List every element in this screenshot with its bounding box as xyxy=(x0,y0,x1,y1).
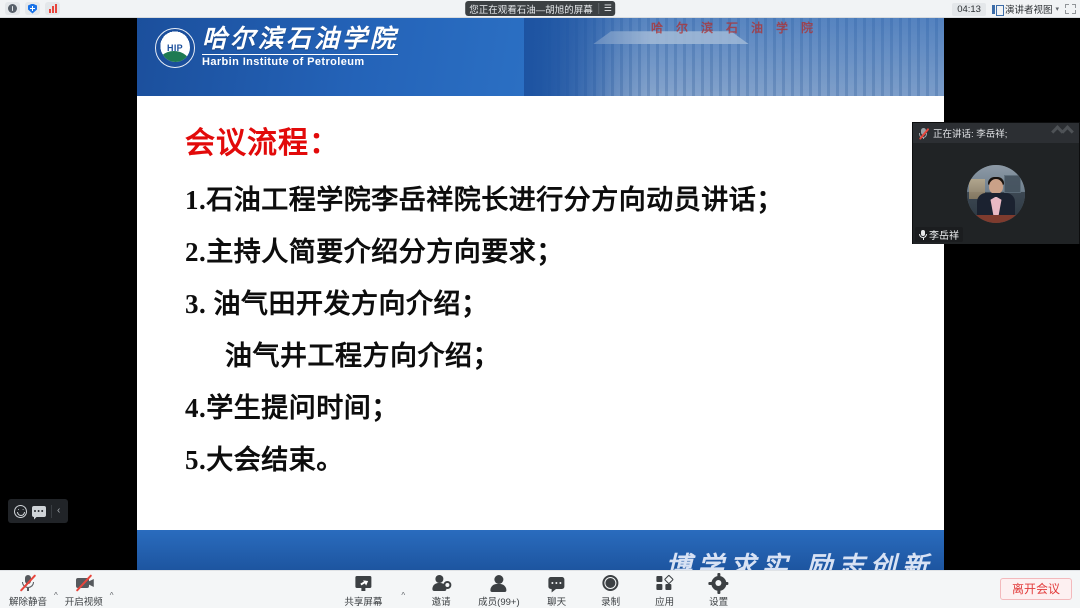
top-bar-left-icons xyxy=(0,2,60,15)
members-button[interactable]: 成员(99+) xyxy=(475,573,522,608)
shared-screen-slide[interactable]: 哈尔滨石油学院 HIP 哈尔滨石油学院 Harbin Institute of … xyxy=(137,18,944,570)
layout-icon xyxy=(992,5,1002,14)
slide-line-1: 1.石油工程学院李岳祥院长进行分方向动员讲话； xyxy=(185,178,910,217)
chevron-down-icon: ▾ xyxy=(1055,5,1059,13)
view-mode-label: 演讲者视图 xyxy=(1005,2,1053,16)
slide-footer-banner: 博学求实 励志创新 xyxy=(137,530,944,570)
invite-icon xyxy=(431,574,451,593)
mic-muted-icon xyxy=(918,127,928,140)
members-icon xyxy=(489,574,509,593)
record-label: 录制 xyxy=(601,594,620,608)
logo-emblem-icon: HIP xyxy=(155,28,195,68)
members-label: 成员(99+) xyxy=(478,594,519,608)
settings-label: 设置 xyxy=(709,594,728,608)
logo-en-name: Harbin Institute of Petroleum xyxy=(202,54,398,68)
bottom-toolbar-center: 共享屏幕 ^ 邀请 成员(99+) 聊天 录制 应用 xyxy=(341,573,738,608)
notice-menu-icon[interactable]: ☰ xyxy=(604,3,611,14)
unmute-button[interactable]: 解除静音 xyxy=(6,573,50,608)
shield-plus-icon-button[interactable] xyxy=(25,2,40,15)
participant-name: 李岳祥 xyxy=(929,227,959,242)
start-video-button[interactable]: 开启视频 xyxy=(62,573,106,608)
university-logo: HIP 哈尔滨石油学院 Harbin Institute of Petroleu… xyxy=(155,27,398,68)
slide-line-3: 3. 油气田开发方向介绍； xyxy=(185,282,910,321)
slide-title: 会议流程： xyxy=(185,118,910,162)
record-button[interactable]: 录制 xyxy=(591,573,631,608)
divider xyxy=(598,3,599,14)
smile-icon[interactable] xyxy=(14,505,27,518)
slide-line-5: 5.大会结束。 xyxy=(185,438,910,477)
slide-line-3b: 油气井工程方向介绍； xyxy=(185,334,910,373)
logo-wordmark: 哈尔滨石油学院 Harbin Institute of Petroleum xyxy=(202,27,398,68)
signal-bars-icon-button[interactable] xyxy=(45,2,60,15)
meeting-window: 您正在观看石油—胡旭的屏幕 ☰ 04:13 演讲者视图 ▾ 哈尔滨石油学院 HI… xyxy=(0,0,1080,608)
top-bar-right: 04:13 演讲者视图 ▾ xyxy=(952,0,1076,18)
settings-button[interactable]: 设置 xyxy=(699,573,739,608)
mic-icon xyxy=(919,229,927,240)
speaking-status-label: 正在讲话: 李岳祥; xyxy=(933,126,1007,140)
camera-off-icon xyxy=(74,574,94,593)
gear-icon xyxy=(709,574,729,593)
banner-watermark-text: 哈尔滨石油学院 xyxy=(651,19,826,36)
bottom-toolbar-left: 解除静音 ^ 开启视频 ^ xyxy=(6,573,116,608)
slide-line-4: 4.学生提问时间； xyxy=(185,386,910,425)
logo-abbr: HIP xyxy=(167,43,183,53)
slide-line-2: 2.主持人简要介绍分方向要求； xyxy=(185,230,910,269)
meeting-timer: 04:13 xyxy=(952,3,986,16)
fullscreen-icon[interactable] xyxy=(1065,4,1076,14)
chat-icon xyxy=(547,574,567,593)
participant-name-badge: 李岳祥 xyxy=(915,227,963,242)
info-circle-icon-button[interactable] xyxy=(5,2,20,15)
top-bar: 您正在观看石油—胡旭的屏幕 ☰ 04:13 演讲者视图 ▾ xyxy=(0,0,1080,18)
info-circle-icon xyxy=(8,4,17,13)
share-options-chevron-icon[interactable]: ^ xyxy=(399,591,407,600)
collapse-thumbnails-icon[interactable] xyxy=(1053,127,1072,136)
start-video-label: 开启视频 xyxy=(65,594,103,608)
mic-muted-icon xyxy=(18,574,38,593)
avatar xyxy=(967,165,1025,223)
invite-button[interactable]: 邀请 xyxy=(421,573,461,608)
video-options-chevron-icon[interactable]: ^ xyxy=(108,591,116,600)
chat-button[interactable]: 聊天 xyxy=(537,573,577,608)
chat-label: 聊天 xyxy=(547,594,566,608)
signal-bars-icon xyxy=(49,4,57,13)
leave-meeting-button[interactable]: 离开会议 xyxy=(1000,578,1072,600)
slide-body: 会议流程： 1.石油工程学院李岳祥院长进行分方向动员讲话； 2.主持人简要介绍分… xyxy=(137,96,944,530)
apps-label: 应用 xyxy=(655,594,674,608)
share-screen-icon xyxy=(353,574,373,593)
speaking-status-bar: 正在讲话: 李岳祥; xyxy=(913,123,1079,143)
slide-footer-motto: 博学求实 励志创新 xyxy=(665,546,934,570)
meeting-stage: 哈尔滨石油学院 HIP 哈尔滨石油学院 Harbin Institute of … xyxy=(0,18,1080,570)
screen-share-notice-text: 您正在观看石油—胡旭的屏幕 xyxy=(469,2,593,16)
unmute-label: 解除静音 xyxy=(9,594,47,608)
invite-label: 邀请 xyxy=(432,594,451,608)
divider xyxy=(51,505,52,518)
floating-reaction-bar[interactable]: ‹ xyxy=(8,499,68,523)
share-screen-label: 共享屏幕 xyxy=(344,594,382,608)
collapse-chevron-icon[interactable]: ‹ xyxy=(57,506,60,516)
slide-header-banner: 哈尔滨石油学院 HIP 哈尔滨石油学院 Harbin Institute of … xyxy=(137,18,944,96)
screen-share-notice[interactable]: 您正在观看石油—胡旭的屏幕 ☰ xyxy=(465,1,615,16)
shield-plus-icon xyxy=(28,4,37,14)
audio-options-chevron-icon[interactable]: ^ xyxy=(52,591,60,600)
apps-button[interactable]: 应用 xyxy=(645,573,685,608)
view-mode-selector[interactable]: 演讲者视图 ▾ xyxy=(992,2,1059,16)
speaker-thumbnail-panel[interactable]: 正在讲话: 李岳祥; 李岳祥 xyxy=(912,122,1080,244)
speaker-video-tile[interactable]: 李岳祥 xyxy=(913,143,1079,244)
apps-icon xyxy=(655,574,675,593)
logo-cn-name: 哈尔滨石油学院 xyxy=(202,27,398,53)
record-icon xyxy=(601,574,621,593)
share-screen-button[interactable]: 共享屏幕 xyxy=(341,573,385,608)
chat-bubble-icon[interactable] xyxy=(32,506,46,517)
bottom-toolbar: 解除静音 ^ 开启视频 ^ 共享屏幕 ^ 邀请 成员(99+) xyxy=(0,570,1080,608)
